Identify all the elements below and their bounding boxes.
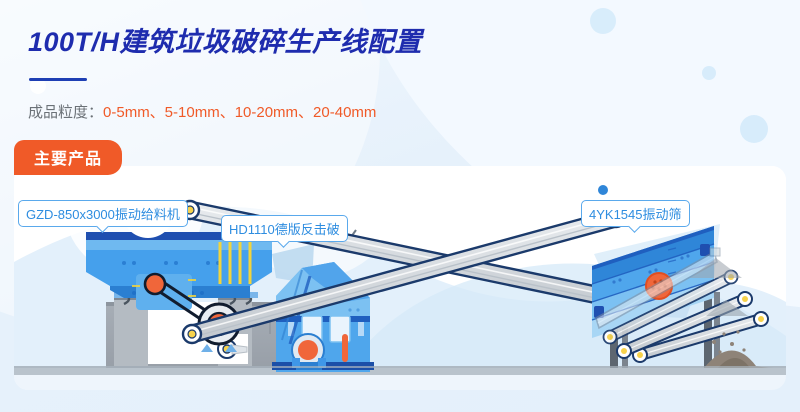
subtitle-value: 0-5mm、5-10mm、10-20mm、20-40mm: [103, 104, 376, 121]
callout-vibrating-screen[interactable]: 4YK1545振动筛: [581, 200, 690, 227]
title-divider: [29, 78, 87, 81]
callout-impact-crusher[interactable]: HD1110德版反击破: [221, 215, 348, 242]
subtitle-label: 成品粒度：: [28, 104, 103, 121]
callout-label: HD1110德版反击破: [229, 222, 340, 237]
background-dot-icon: [590, 8, 616, 34]
status-badge: 主要产品: [14, 140, 122, 175]
subtitle: 成品粒度：0-5mm、5-10mm、10-20mm、20-40mm: [28, 104, 376, 122]
infographic-canvas: 100T/H建筑垃圾破碎生产线配置 成品粒度：0-5mm、5-10mm、10-2…: [0, 0, 800, 412]
page-title: 100T/H建筑垃圾破碎生产线配置: [28, 28, 422, 58]
background-dot-icon: [740, 115, 768, 143]
callout-label: 4YK1545振动筛: [589, 207, 682, 222]
background-dot-icon: [702, 66, 716, 80]
callout-vibrating-feeder[interactable]: GZD-850x3000振动给料机: [18, 200, 188, 227]
